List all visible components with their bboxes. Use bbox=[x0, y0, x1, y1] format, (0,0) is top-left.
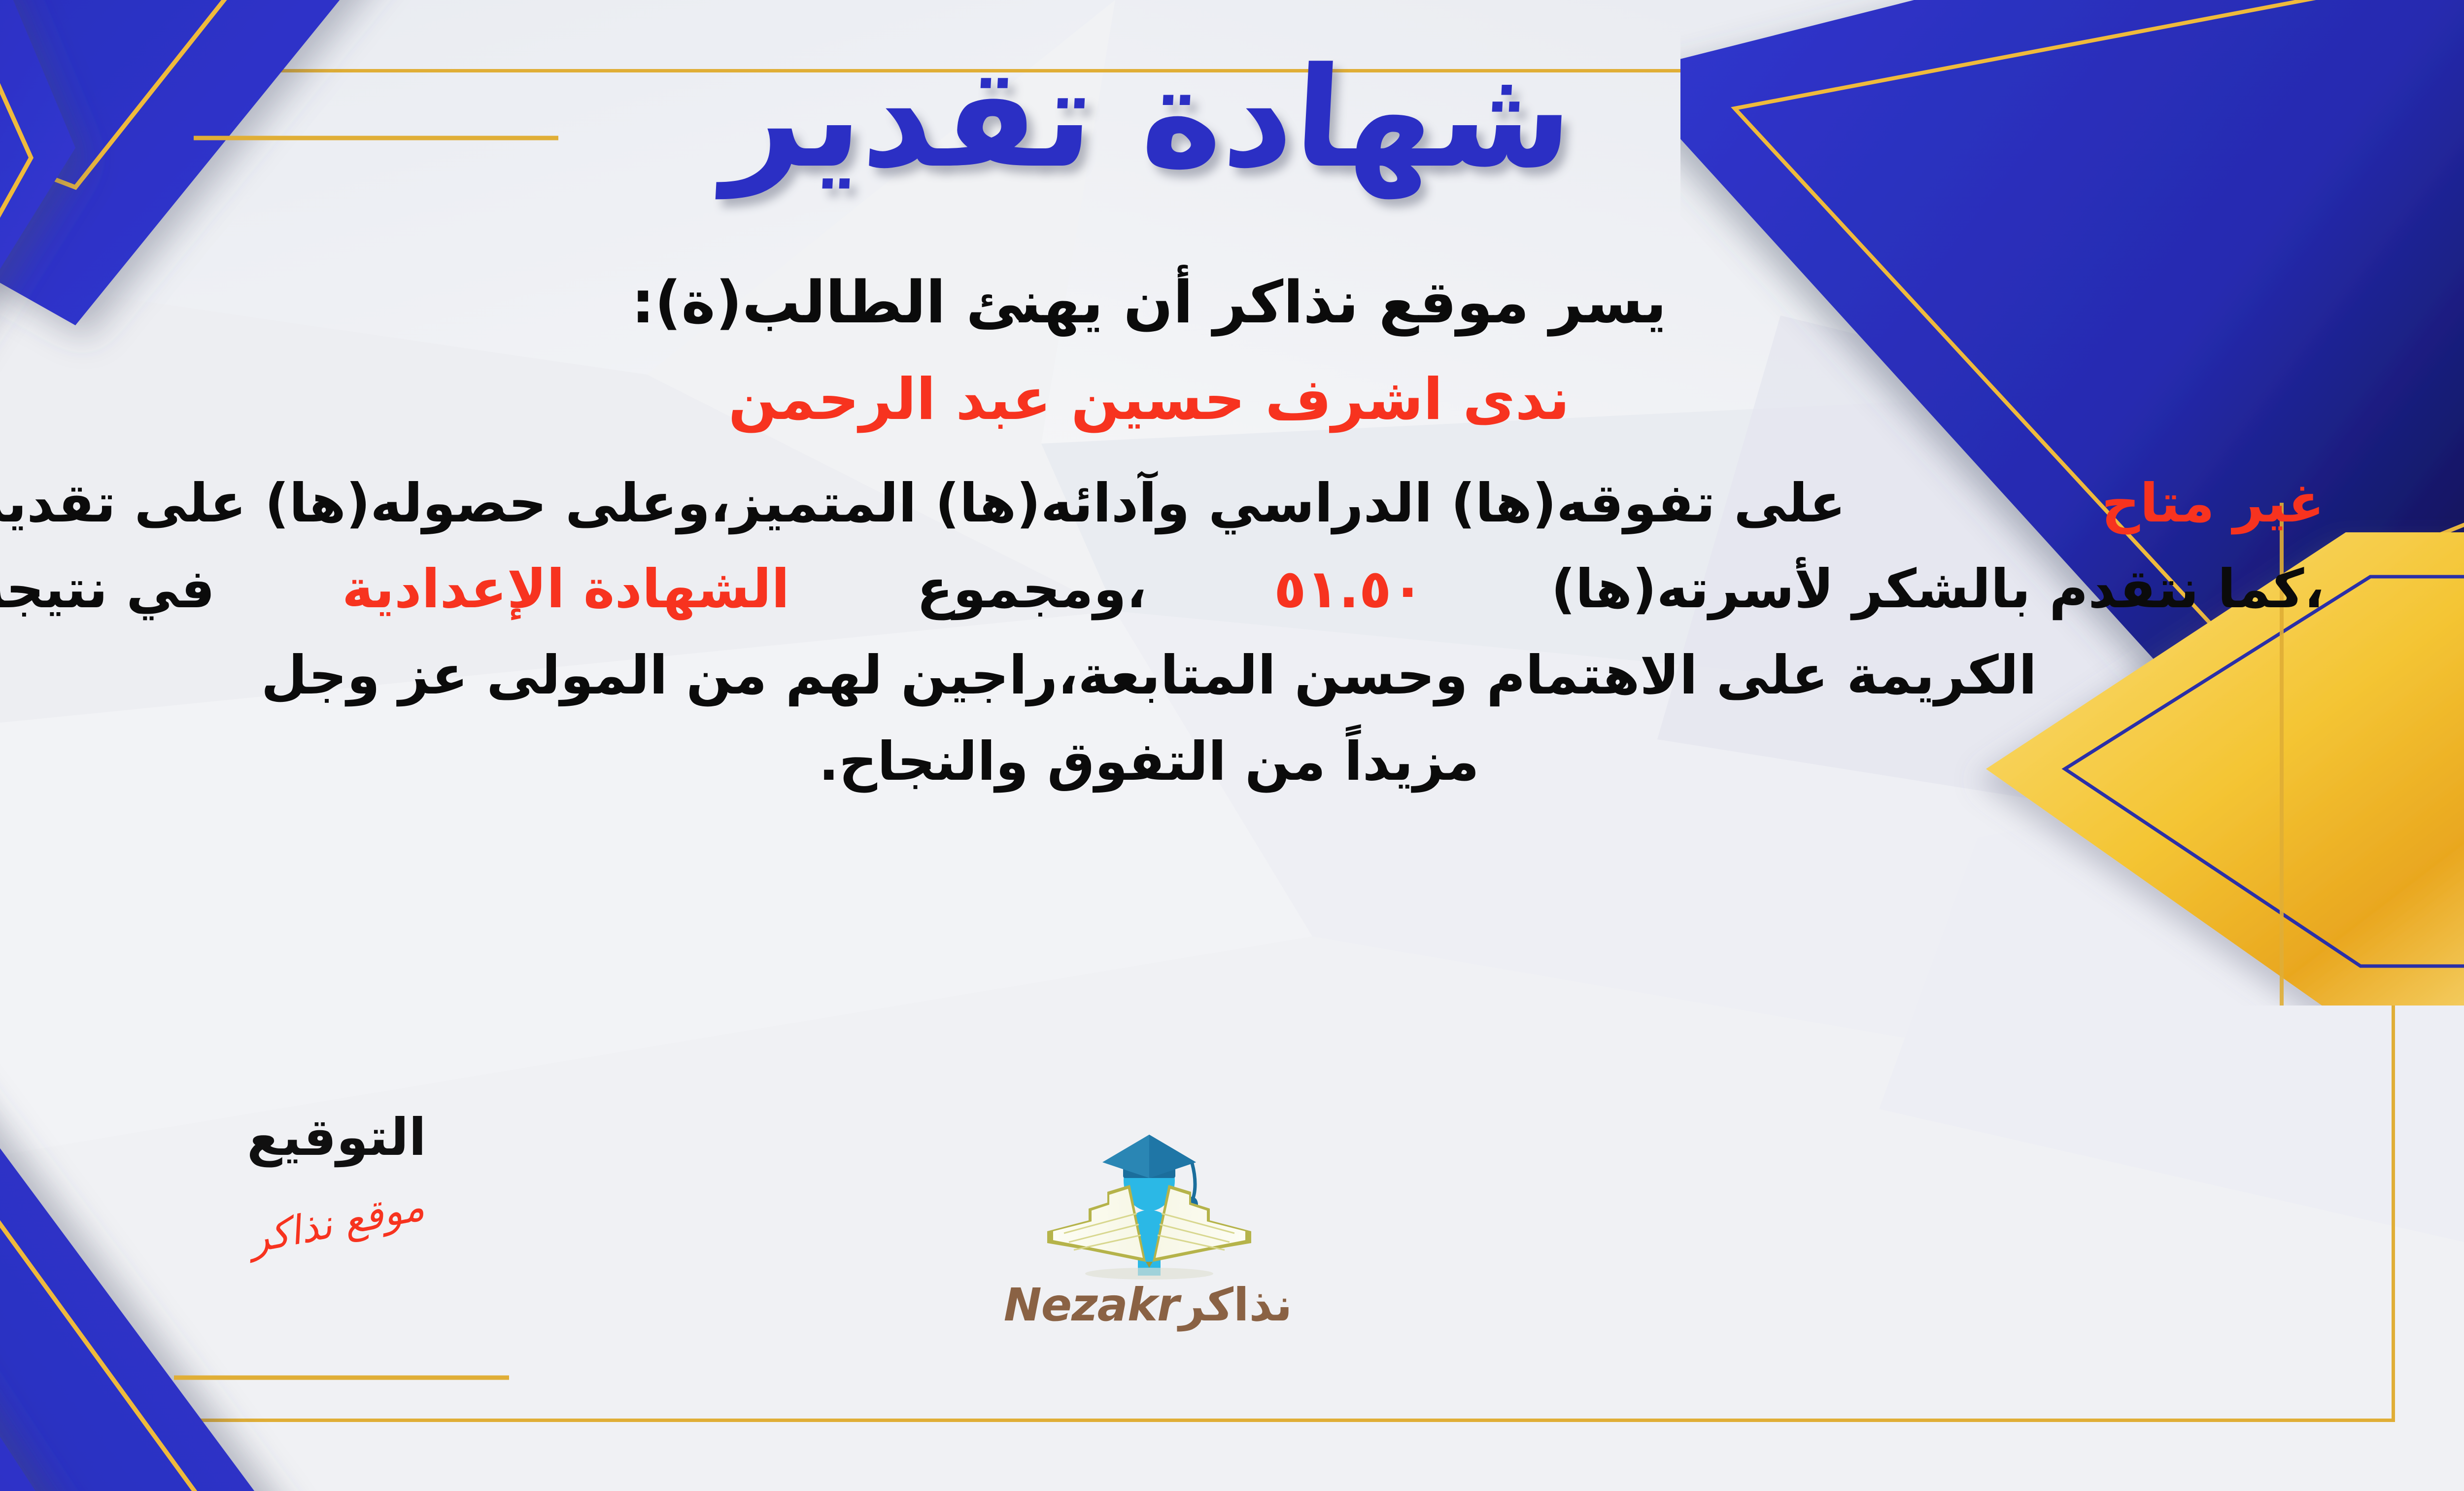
brand-latin: Nezakr bbox=[1004, 1279, 1179, 1331]
graduate-book-logo-icon bbox=[1033, 1104, 1265, 1282]
certificate-page: شهادة تقدير يسر موقع نذاكر أن يهنئ الطال… bbox=[0, 0, 2464, 1491]
body-line-2-middle: ،ومجموع bbox=[917, 547, 1147, 633]
body-line-1-text: على تفوقه(ها) الدراسي وآدائه(ها) المتميز… bbox=[0, 461, 1846, 547]
total-score-value: ٥١.٥٠ bbox=[1274, 547, 1424, 633]
body-line-1: غير متاح على تفوقه(ها) الدراسي وآدائه(ها… bbox=[0, 461, 2369, 547]
body-line-2-start: في نتيجة bbox=[0, 547, 215, 633]
grade-estimate-value: غير متاح bbox=[2102, 461, 2325, 547]
body-line-2-end: ،كما نتقدم بالشكر لأسرته(ها) bbox=[1551, 547, 2324, 633]
body-line-4: مزيداً من التفوق والنجاح. bbox=[0, 719, 2369, 805]
certificate-footer: التوقيع موقع نذاكر bbox=[0, 1109, 2464, 1424]
signature-label: التوقيع bbox=[149, 1109, 524, 1165]
brand-wordmark: Nezakrنذاكر bbox=[962, 1279, 1336, 1331]
body-paragraph: غير متاح على تفوقه(ها) الدراسي وآدائه(ها… bbox=[0, 461, 2369, 806]
title-area: شهادة تقدير bbox=[0, 30, 2464, 207]
body-line-2: ،كما نتقدم بالشكر لأسرته(ها) ٥١.٥٠ ،ومجم… bbox=[0, 547, 2369, 633]
certificate-content: شهادة تقدير يسر موقع نذاكر أن يهنئ الطال… bbox=[0, 0, 2464, 1491]
brand-arabic: نذاكر bbox=[1179, 1279, 1292, 1331]
signature-block: التوقيع موقع نذاكر bbox=[149, 1109, 524, 1246]
student-name: ندى اشرف حسين عبد الرحمن bbox=[728, 364, 1570, 435]
signature-mark: موقع نذاكر bbox=[148, 1165, 525, 1281]
certificate-stage-value: الشهادة الإعدادية bbox=[342, 547, 789, 633]
brand-logo: Nezakrنذاكر bbox=[962, 1104, 1336, 1331]
body-line-3: الكريمة على الاهتمام وحسن المتابعة،راجين… bbox=[0, 633, 2369, 719]
greeting-line: يسر موقع نذاكر أن يهنئ الطالب(ة): bbox=[631, 266, 1667, 339]
certificate-title: شهادة تقدير bbox=[721, 49, 1576, 187]
